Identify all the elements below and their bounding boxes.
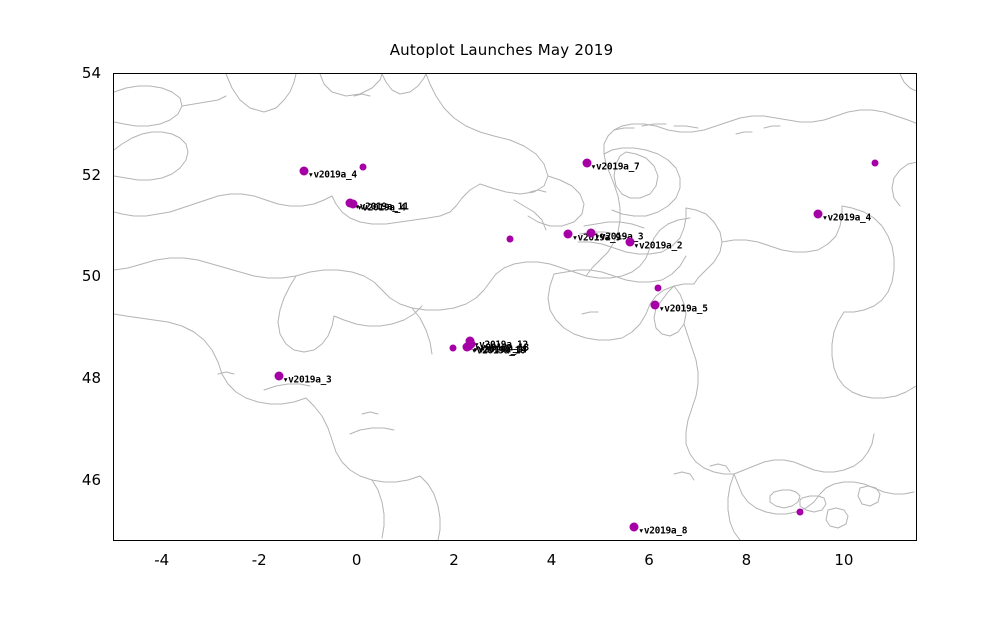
data-point-label: ▾v2019a_4 (308, 169, 357, 180)
y-tick-major (113, 176, 114, 177)
x-tick-label: 6 (619, 551, 679, 569)
chart-title: Autoplot Launches May 2019 (0, 41, 1003, 59)
x-tick-label: 4 (522, 551, 582, 569)
x-tick-label: 8 (716, 551, 776, 569)
y-tick-major (113, 277, 114, 278)
y-tick-major (113, 74, 114, 75)
x-tick-label: 0 (327, 551, 387, 569)
data-point-label: ▾v2019a_5 (659, 304, 708, 315)
y-tick-label: 54 (41, 64, 101, 82)
data-point[interactable] (506, 236, 513, 243)
y-tick-major (113, 379, 114, 380)
y-tick-label: 48 (41, 369, 101, 387)
y-tick-minor (113, 227, 114, 228)
data-point-label: ▾v2019a_10 (471, 346, 525, 357)
data-point[interactable] (449, 344, 456, 351)
x-tick-label: 2 (424, 551, 484, 569)
data-point-label: ▾v2019a_3 (283, 374, 332, 385)
x-tick-label: -2 (229, 551, 289, 569)
data-point[interactable] (654, 284, 661, 291)
data-point-label: ▾v2019a_2 (634, 240, 683, 251)
x-tick-label: -4 (132, 551, 192, 569)
y-tick-minor (113, 328, 114, 329)
y-tick-label: 52 (41, 166, 101, 184)
figure-canvas: Autoplot Launches May 2019 (0, 0, 1003, 633)
basemap-coastlines (114, 74, 917, 541)
data-point-label: ▾v2019a_4 (822, 212, 871, 223)
y-tick-minor (113, 532, 114, 533)
data-point[interactable] (797, 509, 804, 516)
data-point-label: ▾v2019a_7 (591, 162, 640, 173)
plot-area[interactable]: ▾v2019a_4▾v2019a_11▾v2019a_4▾v2019a_3▾v2… (113, 73, 917, 541)
y-tick-minor (113, 125, 114, 126)
data-point[interactable] (872, 159, 879, 166)
data-point-label: ▾v2019a_4 (357, 202, 406, 213)
y-tick-label: 46 (41, 471, 101, 489)
y-tick-major (113, 481, 114, 482)
y-tick-label: 50 (41, 267, 101, 285)
x-tick-label: 10 (814, 551, 874, 569)
data-point-label: ▾v2019a_8 (638, 525, 687, 536)
data-point[interactable] (360, 163, 367, 170)
y-tick-minor (113, 430, 114, 431)
